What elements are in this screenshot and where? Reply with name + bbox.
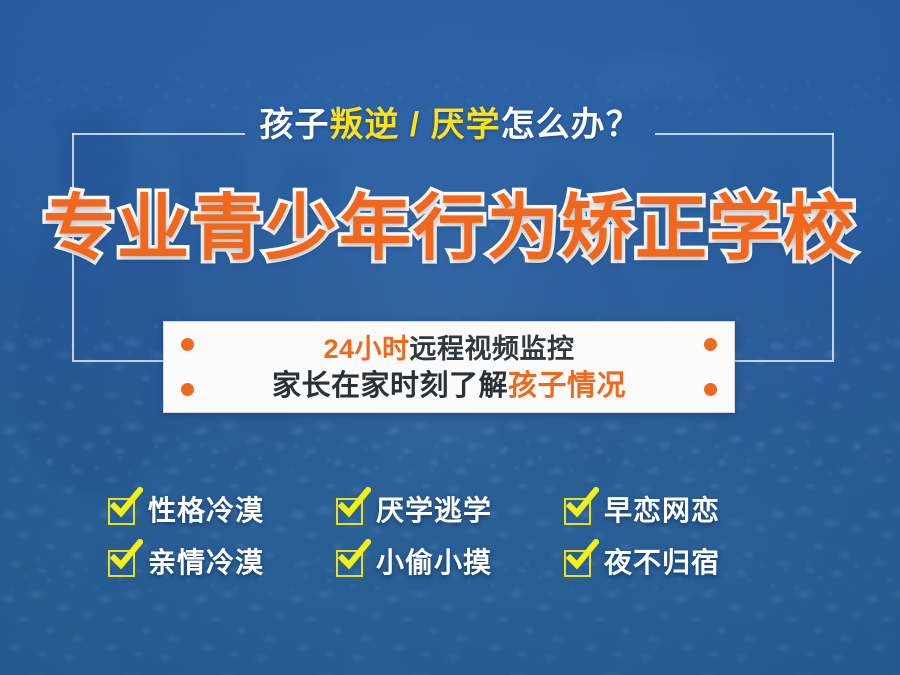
- checkbox-checked-icon: [564, 498, 591, 525]
- kicker-headline: 孩子叛逆 / 厌学怎么办？: [0, 108, 900, 142]
- kicker-highlight-rebellion: 叛逆: [329, 106, 399, 144]
- info-line-1: 24小时远程视频监控: [206, 331, 692, 367]
- symptom-checklist: 性格冷漠 厌学逃学 早恋网恋: [108, 485, 808, 589]
- checklist-row: 性格冷漠 厌学逃学 早恋网恋: [108, 485, 808, 537]
- banner-content: 孩子叛逆 / 厌学怎么办？ 专业青少年行为矫正学校 24小时远程视频监控 家长在…: [0, 0, 900, 675]
- info-line-2-rest: 家长在家时刻了解: [272, 370, 508, 402]
- checkbox-checked-icon: [108, 550, 135, 577]
- promotional-banner: 孩子叛逆 / 厌学怎么办？ 专业青少年行为矫正学校 24小时远程视频监控 家长在…: [0, 0, 900, 675]
- checkbox-checked-icon: [336, 498, 363, 525]
- checklist-item: 亲情冷漠: [108, 549, 336, 577]
- dot-decoration-icon: [704, 383, 717, 396]
- kicker-post: 怎么办？: [501, 106, 641, 144]
- info-line-1-rest: 远程视频监控: [410, 334, 575, 364]
- info-line-2: 家长在家时刻了解孩子情况: [206, 367, 692, 405]
- info-banner-text: 24小时远程视频监控 家长在家时刻了解孩子情况: [206, 331, 692, 405]
- info-banner: 24小时远程视频监控 家长在家时刻了解孩子情况: [163, 321, 735, 413]
- checklist-item-label: 厌学逃学: [376, 497, 492, 525]
- kicker-pre: 孩子: [259, 106, 329, 144]
- dot-decoration-icon: [704, 338, 717, 351]
- checklist-item-label: 夜不归宿: [604, 549, 720, 577]
- kicker-separator: /: [399, 106, 430, 144]
- kicker-highlight-school-aversion: 厌学: [431, 106, 501, 144]
- checklist-item: 早恋网恋: [564, 497, 792, 525]
- checklist-row: 亲情冷漠 小偷小摸 夜不归宿: [108, 537, 808, 589]
- dot-decoration-icon: [181, 338, 194, 351]
- checklist-item: 厌学逃学: [336, 497, 564, 525]
- dot-decoration-icon: [181, 383, 194, 396]
- checklist-item-label: 早恋网恋: [604, 497, 720, 525]
- info-line-2-highlight: 孩子情况: [508, 370, 626, 402]
- page-title: 专业青少年行为矫正学校: [0, 193, 900, 265]
- checkbox-checked-icon: [336, 550, 363, 577]
- checklist-item: 小偷小摸: [336, 549, 564, 577]
- checkbox-checked-icon: [108, 498, 135, 525]
- checklist-item: 性格冷漠: [108, 497, 336, 525]
- checklist-item: 夜不归宿: [564, 549, 792, 577]
- checkbox-checked-icon: [564, 550, 591, 577]
- checklist-item-label: 亲情冷漠: [148, 549, 264, 577]
- checklist-item-label: 性格冷漠: [148, 497, 264, 525]
- info-line-1-highlight: 24小时: [323, 334, 409, 364]
- checklist-item-label: 小偷小摸: [376, 549, 492, 577]
